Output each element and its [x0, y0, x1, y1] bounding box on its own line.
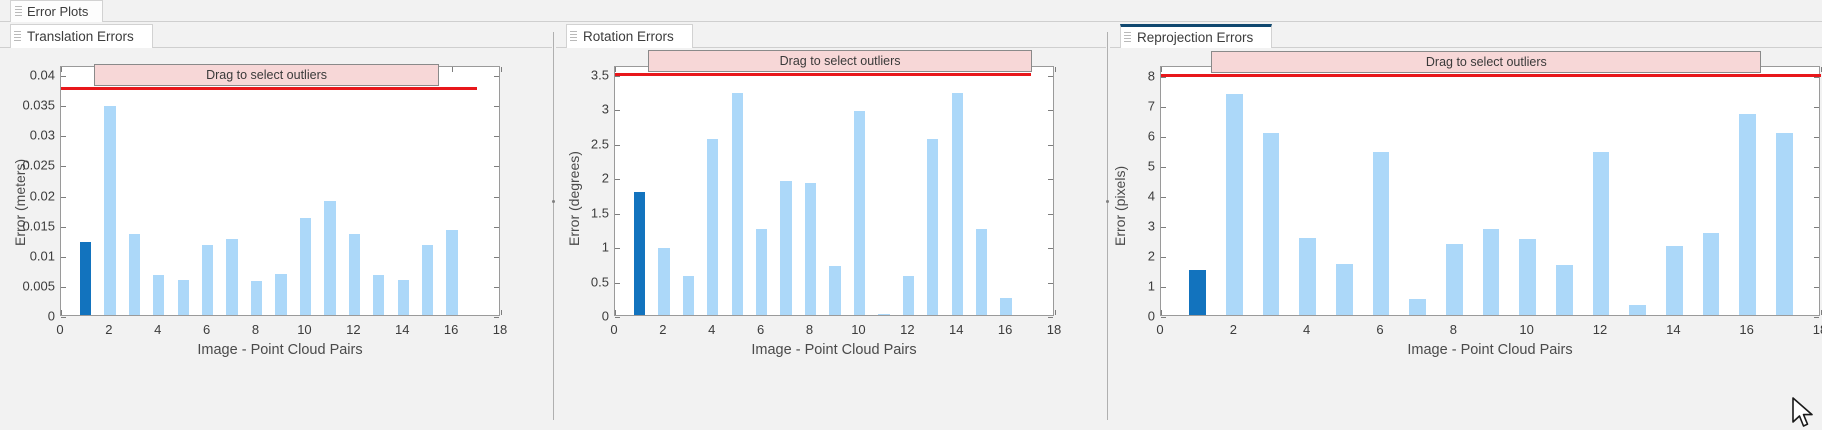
bar[interactable] — [1226, 94, 1243, 315]
bar[interactable] — [1556, 265, 1573, 315]
tab-label: Reprojection Errors — [1133, 30, 1253, 45]
y-axis-tick — [494, 197, 499, 198]
bar[interactable] — [1000, 298, 1011, 315]
y-axis-tick-label: 0 — [48, 309, 55, 324]
x-axis-tick-label: 18 — [493, 322, 507, 337]
axes-area — [614, 66, 1054, 316]
bar[interactable] — [732, 93, 743, 315]
y-axis-tick — [1161, 257, 1166, 258]
y-axis-tick — [61, 287, 66, 288]
y-axis-tick — [1048, 179, 1053, 180]
y-axis-tick — [1048, 317, 1053, 318]
y-axis-tick — [61, 76, 66, 77]
y-axis-tick — [494, 166, 499, 167]
x-axis-tick — [501, 310, 502, 315]
x-axis-tick — [501, 67, 502, 72]
tab-translation-errors[interactable]: Translation Errors — [10, 24, 153, 48]
document-tab-error-plots[interactable]: Error Plots — [10, 0, 103, 22]
y-axis-tick-label: 7 — [1148, 99, 1155, 114]
axes-area — [1160, 66, 1820, 316]
y-axis-tick-label: 2 — [1148, 249, 1155, 264]
x-axis-tick-label: 2 — [659, 322, 666, 337]
bar[interactable] — [805, 183, 816, 315]
bar[interactable] — [1519, 239, 1536, 315]
x-axis-tick-label: 16 — [444, 322, 458, 337]
x-axis-tick-label: 18 — [1047, 322, 1061, 337]
y-axis-tick-label: 0.5 — [591, 274, 609, 289]
x-axis-label: Image - Point Cloud Pairs — [1160, 342, 1820, 358]
bar[interactable] — [300, 218, 311, 315]
y-axis-tick — [1048, 248, 1053, 249]
y-axis-tick — [615, 110, 620, 111]
x-axis-tick — [615, 310, 616, 315]
y-axis-tick-label: 1 — [602, 240, 609, 255]
y-axis-tick — [1161, 77, 1166, 78]
y-axis-tick — [1161, 137, 1166, 138]
bar[interactable] — [251, 281, 262, 315]
x-axis-tick-label: 4 — [154, 322, 161, 337]
mouse-cursor-icon — [1790, 396, 1820, 430]
y-axis-tick — [615, 145, 620, 146]
x-axis-tick-label: 2 — [105, 322, 112, 337]
x-axis-tick-label: 14 — [395, 322, 409, 337]
y-axis-tick — [61, 166, 66, 167]
y-axis-tick — [494, 76, 499, 77]
outlier-drag-band[interactable]: Drag to select outliers — [94, 64, 439, 86]
y-axis-tick — [1814, 317, 1819, 318]
y-axis-tick — [1814, 287, 1819, 288]
x-axis-tick — [61, 310, 62, 315]
bar[interactable] — [324, 201, 335, 315]
y-axis-tick — [1161, 167, 1166, 168]
y-axis-tick — [61, 227, 66, 228]
y-axis-tick — [61, 106, 66, 107]
x-axis-tick — [1161, 310, 1162, 315]
y-axis-tick-label: 0 — [602, 309, 609, 324]
bar[interactable] — [1593, 152, 1610, 315]
bar[interactable] — [1336, 264, 1353, 315]
document-tab-label: Error Plots — [24, 4, 88, 19]
y-axis-tick — [615, 248, 620, 249]
panel-translation-errors: Translation Errors Error (meters)Image -… — [0, 22, 552, 430]
y-axis-tick — [1161, 287, 1166, 288]
y-axis-tick — [1814, 107, 1819, 108]
bar[interactable] — [1666, 246, 1683, 315]
y-axis-tick — [61, 257, 66, 258]
x-axis-tick-label: 6 — [203, 322, 210, 337]
y-axis-tick-label: 1 — [1148, 279, 1155, 294]
y-axis-tick — [1814, 227, 1819, 228]
x-axis-tick-label: 0 — [610, 322, 617, 337]
bar[interactable] — [634, 192, 645, 315]
y-axis-tick — [1814, 197, 1819, 198]
y-axis-tick — [494, 317, 499, 318]
y-axis-tick — [615, 317, 620, 318]
y-axis-tick — [1814, 77, 1819, 78]
drag-grip-icon[interactable] — [570, 30, 577, 43]
bar[interactable] — [1189, 270, 1206, 315]
y-axis-tick-label: 0.035 — [22, 98, 55, 113]
bar[interactable] — [129, 234, 140, 315]
y-axis-tick — [494, 287, 499, 288]
outlier-threshold-line[interactable] — [61, 87, 477, 90]
x-axis-tick-label: 8 — [806, 322, 813, 337]
x-axis-tick — [1161, 67, 1162, 72]
y-axis-tick-label: 0.025 — [22, 158, 55, 173]
outlier-threshold-line[interactable] — [615, 73, 1031, 76]
bar[interactable] — [202, 245, 213, 315]
bar[interactable] — [756, 229, 767, 315]
y-axis-tick-label: 0 — [1148, 309, 1155, 324]
y-axis-tick-label: 3 — [1148, 219, 1155, 234]
y-axis-tick-label: 0.04 — [30, 68, 55, 83]
drag-grip-icon[interactable] — [1124, 31, 1131, 44]
bar[interactable] — [903, 276, 914, 315]
bar[interactable] — [373, 275, 384, 315]
bar[interactable] — [658, 248, 669, 315]
bar[interactable] — [422, 245, 433, 315]
y-axis-tick — [1161, 227, 1166, 228]
bar[interactable] — [878, 314, 889, 315]
plot-reprojection-errors: Error (pixels)Image - Point Cloud Pairs0… — [1110, 48, 1822, 430]
x-axis-tick — [452, 67, 453, 72]
y-axis-tick-label: 1.5 — [591, 205, 609, 220]
y-axis-tick — [494, 257, 499, 258]
bar[interactable] — [153, 275, 164, 315]
y-axis-tick — [61, 317, 66, 318]
x-axis-tick-label: 12 — [900, 322, 914, 337]
y-axis-tick — [61, 197, 66, 198]
y-axis-tick-label: 2 — [602, 171, 609, 186]
y-axis-tick — [615, 214, 620, 215]
x-axis-tick — [61, 67, 62, 72]
y-axis-tick-label: 2.5 — [591, 136, 609, 151]
y-axis-tick — [1048, 214, 1053, 215]
bar[interactable] — [829, 266, 840, 315]
y-axis-tick-label: 6 — [1148, 129, 1155, 144]
y-axis-tick — [1814, 257, 1819, 258]
y-axis-tick — [61, 136, 66, 137]
y-axis-tick — [1161, 197, 1166, 198]
x-axis-label: Image - Point Cloud Pairs — [60, 342, 500, 358]
bar[interactable] — [104, 106, 115, 315]
tab-rotation-errors[interactable]: Rotation Errors — [566, 24, 693, 48]
x-axis-tick-label: 18 — [1813, 322, 1822, 337]
x-axis-tick-label: 8 — [1450, 322, 1457, 337]
y-axis-tick-label: 5 — [1148, 159, 1155, 174]
y-axis-tick — [1048, 145, 1053, 146]
x-axis-tick — [1055, 67, 1056, 72]
x-axis-tick — [615, 67, 616, 72]
bar[interactable] — [1703, 233, 1720, 315]
outlier-drag-band[interactable]: Drag to select outliers — [648, 50, 1032, 72]
x-axis-tick-label: 16 — [1739, 322, 1753, 337]
x-axis-tick-label: 10 — [297, 322, 311, 337]
x-axis-tick-label: 6 — [1376, 322, 1383, 337]
x-axis-tick-label: 16 — [998, 322, 1012, 337]
bar[interactable] — [976, 229, 987, 315]
y-axis-tick-label: 0.03 — [30, 128, 55, 143]
tab-label: Translation Errors — [23, 29, 134, 44]
y-axis-tick — [1814, 137, 1819, 138]
x-axis-tick-label: 10 — [1519, 322, 1533, 337]
plots-container: Translation Errors Error (meters)Image -… — [0, 22, 1822, 430]
x-axis-tick-label: 12 — [346, 322, 360, 337]
bar[interactable] — [1739, 114, 1756, 315]
drag-grip-icon[interactable] — [15, 5, 22, 18]
x-axis-tick-label: 0 — [1156, 322, 1163, 337]
bar[interactable] — [398, 280, 409, 315]
x-axis-tick-label: 0 — [56, 322, 63, 337]
bar[interactable] — [446, 230, 457, 315]
y-axis-tick — [1048, 283, 1053, 284]
bar[interactable] — [927, 139, 938, 315]
bar[interactable] — [1263, 133, 1280, 315]
x-axis-tick-label: 14 — [949, 322, 963, 337]
plot-rotation-errors: Error (degrees)Image - Point Cloud Pairs… — [556, 48, 1106, 430]
y-axis-tick-label: 0.01 — [30, 248, 55, 263]
bar[interactable] — [349, 234, 360, 315]
plot-translation-errors: Error (meters)Image - Point Cloud Pairs0… — [0, 48, 552, 430]
bar[interactable] — [683, 276, 694, 315]
x-axis-tick-label: 14 — [1666, 322, 1680, 337]
axes-area — [60, 66, 500, 316]
panel-rotation-errors: Rotation Errors Error (degrees)Image - P… — [556, 22, 1106, 430]
bar[interactable] — [854, 111, 865, 315]
x-axis-tick-label: 12 — [1593, 322, 1607, 337]
y-axis-tick-label: 8 — [1148, 69, 1155, 84]
y-axis-label: Error (degrees) — [566, 151, 582, 246]
y-axis-tick — [1048, 76, 1053, 77]
bar[interactable] — [178, 280, 189, 315]
bar[interactable] — [1299, 238, 1316, 315]
y-axis-tick-label: 3.5 — [591, 67, 609, 82]
y-axis-tick-label: 3 — [602, 102, 609, 117]
y-axis-tick — [1161, 317, 1166, 318]
bar[interactable] — [1629, 305, 1646, 315]
tab-reprojection-errors[interactable]: Reprojection Errors — [1120, 24, 1272, 48]
y-axis-tick — [494, 136, 499, 137]
x-axis-tick-label: 8 — [252, 322, 259, 337]
y-axis-tick-label: 4 — [1148, 189, 1155, 204]
drag-grip-icon[interactable] — [14, 30, 21, 43]
x-axis-tick-label: 6 — [757, 322, 764, 337]
x-axis-tick — [1055, 310, 1056, 315]
y-axis-tick — [615, 283, 620, 284]
bar[interactable] — [275, 274, 286, 315]
chart-tabbar-1: Translation Errors — [0, 22, 552, 48]
bar[interactable] — [1409, 299, 1426, 315]
y-axis-tick — [1814, 167, 1819, 168]
y-axis-tick — [494, 106, 499, 107]
panel-reprojection-errors: Reprojection Errors Error (pixels)Image … — [1110, 22, 1822, 430]
outlier-threshold-line[interactable] — [1161, 74, 1821, 77]
y-axis-tick — [1161, 107, 1166, 108]
x-axis-label: Image - Point Cloud Pairs — [614, 342, 1054, 358]
bar[interactable] — [707, 139, 718, 315]
y-axis-tick — [494, 227, 499, 228]
bar[interactable] — [1373, 152, 1390, 315]
y-axis-tick-label: 0.02 — [30, 188, 55, 203]
bar[interactable] — [780, 181, 791, 315]
bar[interactable] — [226, 239, 237, 315]
bar[interactable] — [952, 93, 963, 315]
y-axis-tick — [1048, 110, 1053, 111]
chart-tabbar-3: Reprojection Errors — [1110, 22, 1822, 48]
bar[interactable] — [1446, 244, 1463, 315]
x-axis-tick-label: 10 — [851, 322, 865, 337]
y-axis-tick — [615, 179, 620, 180]
y-axis-label: Error (pixels) — [1112, 166, 1128, 246]
outlier-drag-band[interactable]: Drag to select outliers — [1211, 51, 1761, 73]
y-axis-tick-label: 0.005 — [22, 278, 55, 293]
document-tabstrip: Error Plots — [0, 0, 1822, 22]
x-axis-tick-label: 4 — [708, 322, 715, 337]
tab-label: Rotation Errors — [579, 29, 674, 44]
x-axis-tick-label: 2 — [1230, 322, 1237, 337]
y-axis-tick-label: 0.015 — [22, 218, 55, 233]
x-axis-tick-label: 4 — [1303, 322, 1310, 337]
bar[interactable] — [1776, 133, 1793, 315]
bar[interactable] — [80, 242, 91, 315]
bar[interactable] — [1483, 229, 1500, 315]
chart-tabbar-2: Rotation Errors — [556, 22, 1106, 48]
